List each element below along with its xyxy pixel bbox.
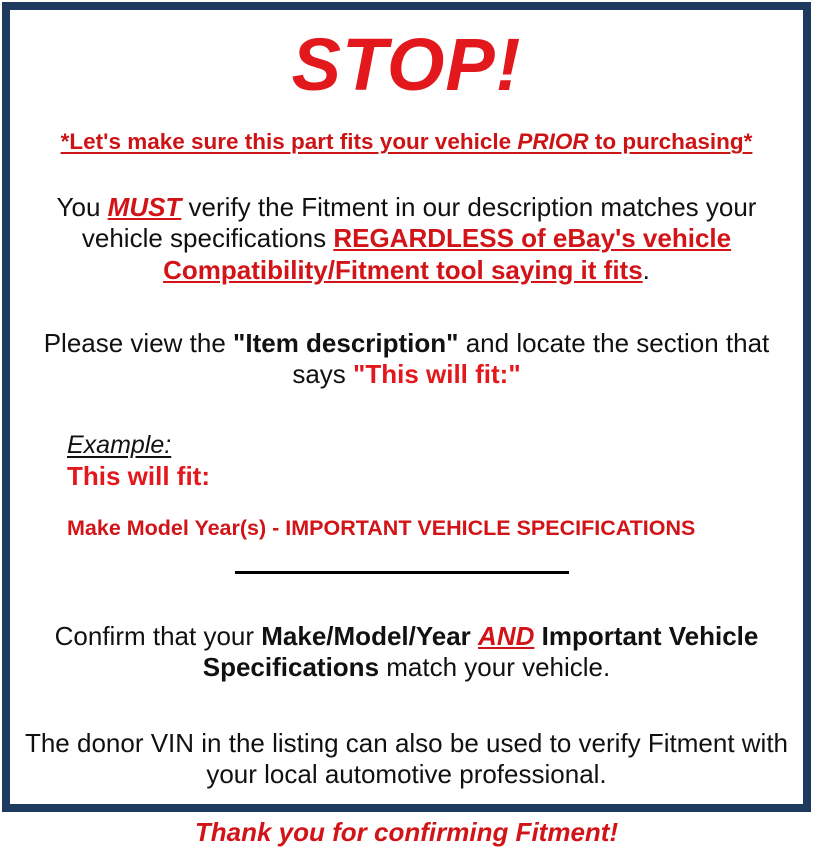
section-divider (24, 567, 789, 581)
tagline-tail: to purchasing* (589, 129, 753, 154)
view-part1: Please view the (44, 328, 233, 358)
confirm-emphasis-and: AND (478, 621, 534, 651)
confirm-part3 (534, 621, 541, 651)
page-title-stop: STOP! (24, 28, 789, 101)
tagline-banner: *Let's make sure this part fits your veh… (24, 129, 789, 155)
thank-you-message: Thank you for confirming Fitment! (24, 817, 789, 848)
example-fit-header: This will fit: (67, 462, 789, 492)
paragraph-must-verify: You MUST verify the Fitment in our descr… (24, 192, 789, 286)
paragraph-confirm-match: Confirm that your Make/Model/Year AND Im… (24, 621, 789, 683)
confirm-emphasis-make-model-year: Make/Model/Year (261, 621, 471, 651)
view-emphasis-item-description: "Item description" (233, 328, 458, 358)
example-label: Example: (67, 432, 789, 460)
confirm-part1: Confirm that your (55, 621, 262, 651)
tagline-lead: *Let's make sure this part fits your veh… (61, 129, 518, 154)
notice-border-frame: STOP! *Let's make sure this part fits yo… (2, 2, 811, 812)
divider-rule (235, 571, 569, 574)
view-emphasis-this-will-fit: "This will fit:" (353, 359, 521, 389)
must-emphasis-must: MUST (108, 192, 182, 222)
paragraph-donor-vin: The donor VIN in the listing can also be… (24, 728, 789, 790)
tagline-emphasis-prior: PRIOR (517, 129, 588, 154)
fitment-notice-card: STOP! *Let's make sure this part fits yo… (0, 0, 813, 814)
example-spec-line: Make Model Year(s) - IMPORTANT VEHICLE S… (67, 516, 789, 541)
confirm-part2 (471, 621, 478, 651)
must-part3: . (643, 255, 650, 285)
confirm-part4: match your vehicle. (379, 652, 610, 682)
example-block: Example: This will fit: Make Model Year(… (24, 432, 789, 541)
must-part1: You (57, 192, 108, 222)
paragraph-item-description: Please view the "Item description" and l… (24, 328, 789, 390)
